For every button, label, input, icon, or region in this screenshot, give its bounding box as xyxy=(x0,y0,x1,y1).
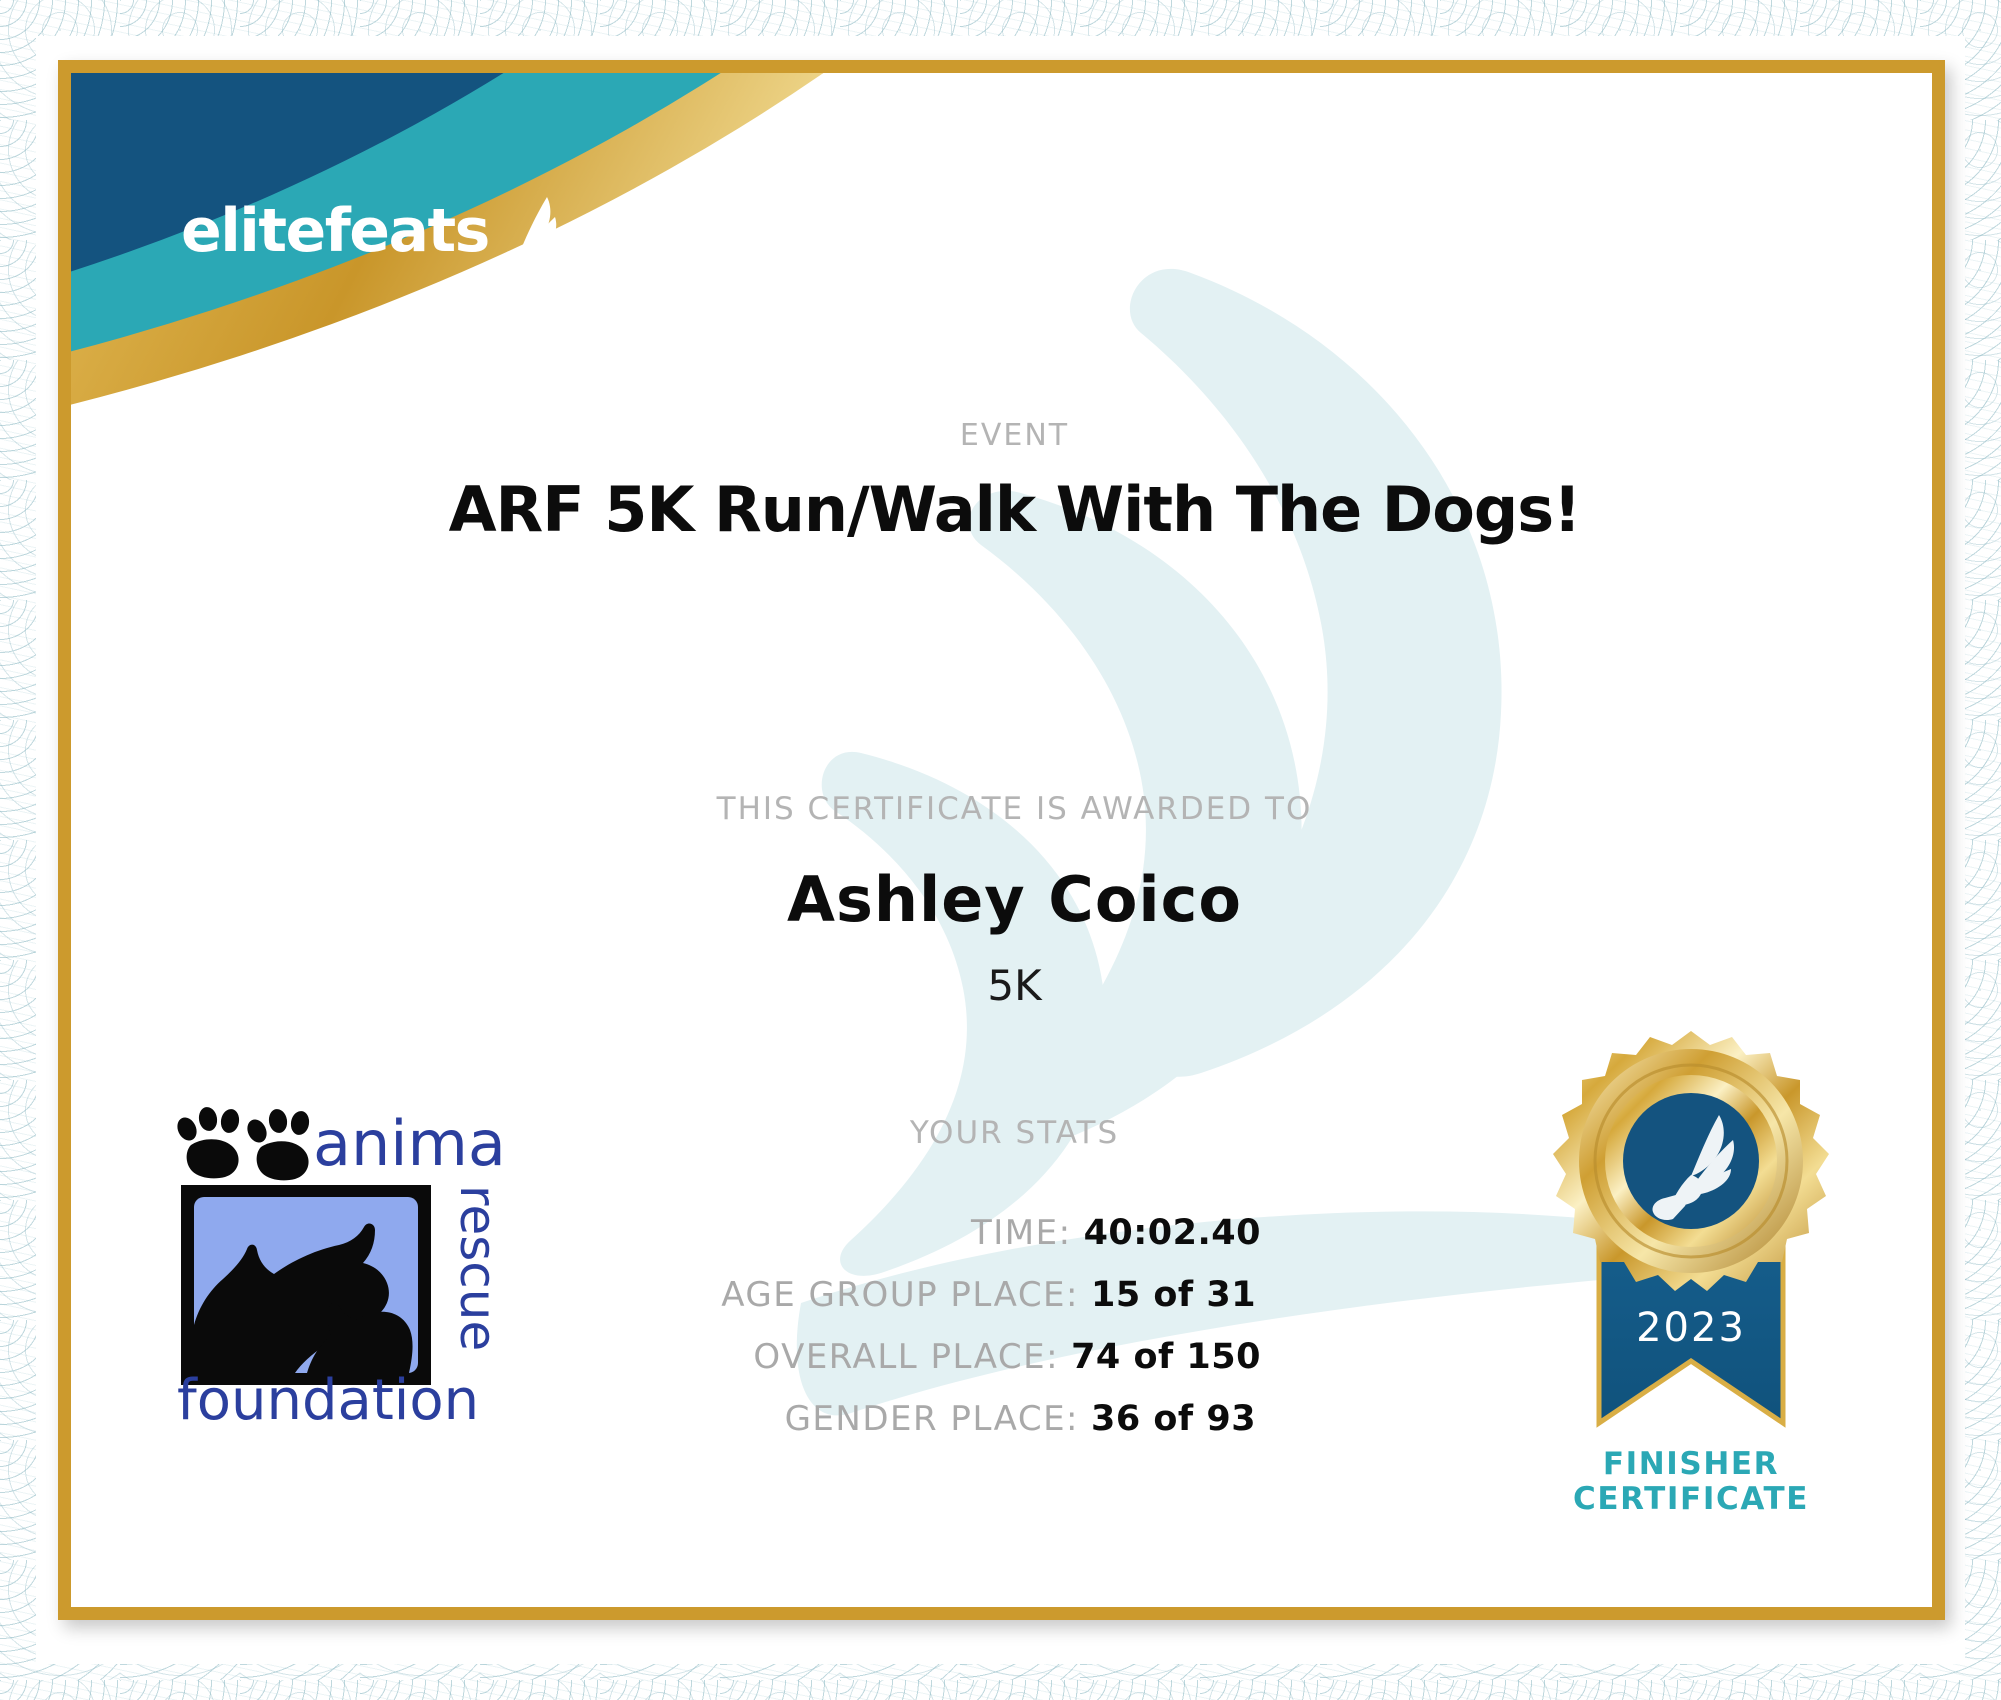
medal-center-disc xyxy=(1623,1093,1759,1229)
stat-key-age-group-place: AGE GROUP PLACE: xyxy=(721,1275,1079,1315)
medal-year: 2023 xyxy=(1636,1305,1746,1351)
winged-foot-icon xyxy=(487,195,565,281)
sponsor-word-animal: animal xyxy=(313,1107,511,1180)
finisher-medal-badge: 2023 FINISHER CERTIFICATE xyxy=(1531,1023,1851,1533)
medal-caption-line1: FINISHER xyxy=(1531,1447,1851,1482)
sponsor-logo-animal-rescue-foundation: animal rescue foundation xyxy=(161,1093,511,1423)
sponsor-word-foundation: foundation xyxy=(177,1368,479,1423)
paw-print-icon xyxy=(174,1106,311,1181)
certificate-page: elitefeats EVENT ARF 5K Run/Walk With Th… xyxy=(0,0,2001,1700)
event-label: EVENT xyxy=(71,418,1932,453)
stat-key-gender-place: GENDER PLACE: xyxy=(785,1399,1079,1439)
brand-logo: elitefeats xyxy=(181,195,565,281)
stat-value-time: 40:02.40 xyxy=(1084,1213,1261,1253)
medal-rosette xyxy=(1553,1031,1829,1291)
stat-value-overall-place: 74 of 150 xyxy=(1071,1337,1261,1377)
medal-graphic: 2023 xyxy=(1541,1023,1841,1453)
stat-value-gender-place: 36 of 93 xyxy=(1091,1399,1261,1439)
recipient-distance: 5K xyxy=(71,961,1932,1010)
event-title: ARF 5K Run/Walk With The Dogs! xyxy=(71,473,1932,546)
awarded-to-label: THIS CERTIFICATE IS AWARDED TO xyxy=(71,791,1932,827)
stat-key-overall-place: OVERALL PLACE: xyxy=(753,1337,1059,1377)
stat-key-time: TIME: xyxy=(971,1213,1072,1253)
certificate-card: elitefeats EVENT ARF 5K Run/Walk With Th… xyxy=(58,60,1945,1620)
stat-value-age-group-place: 15 of 31 xyxy=(1091,1275,1261,1315)
sponsor-word-rescue: rescue xyxy=(449,1185,507,1351)
medal-caption-line2: CERTIFICATE xyxy=(1531,1482,1851,1517)
recipient-name: Ashley Coico xyxy=(71,863,1932,936)
brand-name: elitefeats xyxy=(181,201,489,261)
medal-caption: FINISHER CERTIFICATE xyxy=(1531,1447,1851,1516)
